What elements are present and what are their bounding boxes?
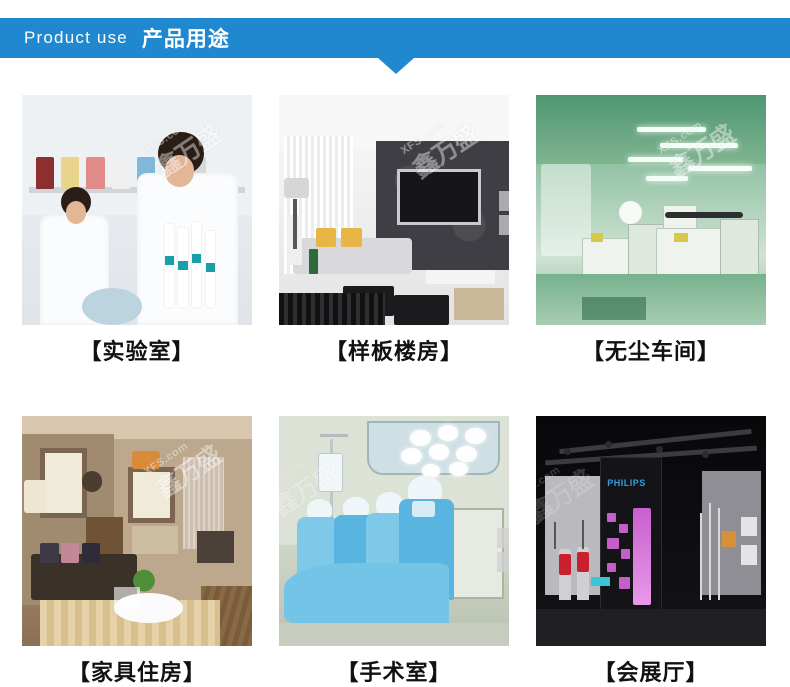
gallery-cell-laboratory[interactable]: XFS.com 鑫万盛 【实验室】	[22, 95, 252, 366]
gallery-cell-operating-room[interactable]: XFS.com 鑫万盛 【手术室】	[279, 416, 509, 687]
product-use-gallery: XFS.com 鑫万盛 【实验室】	[22, 95, 768, 687]
banner-english-title: Product use	[24, 28, 128, 48]
scene-model-room	[279, 95, 509, 325]
scene-operating-room	[279, 416, 509, 646]
caption-furniture-home: 【家具住房】	[22, 646, 252, 687]
booth-brand-label: PHILIPS	[607, 478, 646, 488]
photo-operating-room[interactable]: XFS.com 鑫万盛	[279, 416, 509, 646]
caption-model-room: 【样板楼房】	[279, 325, 509, 366]
caption-cleanroom: 【无尘车间】	[536, 325, 766, 366]
banner-chinese-title: 产品用途	[142, 23, 230, 53]
gallery-row: XFS.com 鑫万盛 【实验室】	[22, 95, 768, 366]
photo-laboratory[interactable]: XFS.com 鑫万盛	[22, 95, 252, 325]
gallery-row: XFS.com 鑫万盛 【家具住房】	[22, 416, 768, 687]
photo-furniture-home[interactable]: XFS.com 鑫万盛	[22, 416, 252, 646]
caption-laboratory: 【实验室】	[22, 325, 252, 366]
banner-title-group: Product use 产品用途	[24, 18, 230, 58]
gallery-cell-furniture-home[interactable]: XFS.com 鑫万盛 【家具住房】	[22, 416, 252, 687]
photo-exhibition-hall[interactable]: PHILIPS	[536, 416, 766, 646]
caption-exhibition-hall: 【会展厅】	[536, 646, 766, 687]
photo-model-room[interactable]: XFS.com 鑫万盛	[279, 95, 509, 325]
scene-cleanroom	[536, 95, 766, 325]
scene-exhibition-hall: PHILIPS	[536, 416, 766, 646]
gallery-cell-cleanroom[interactable]: XFS.com 鑫万盛 【无尘车间】	[536, 95, 766, 366]
section-header-banner: Product use 产品用途	[0, 18, 790, 58]
caption-operating-room: 【手术室】	[279, 646, 509, 687]
banner-down-arrow-icon	[378, 58, 414, 74]
photo-cleanroom[interactable]: XFS.com 鑫万盛	[536, 95, 766, 325]
scene-laboratory	[22, 95, 252, 325]
gallery-cell-exhibition-hall[interactable]: PHILIPS	[536, 416, 766, 687]
gallery-cell-model-room[interactable]: XFS.com 鑫万盛 【样板楼房】	[279, 95, 509, 366]
scene-furniture-home	[22, 416, 252, 646]
